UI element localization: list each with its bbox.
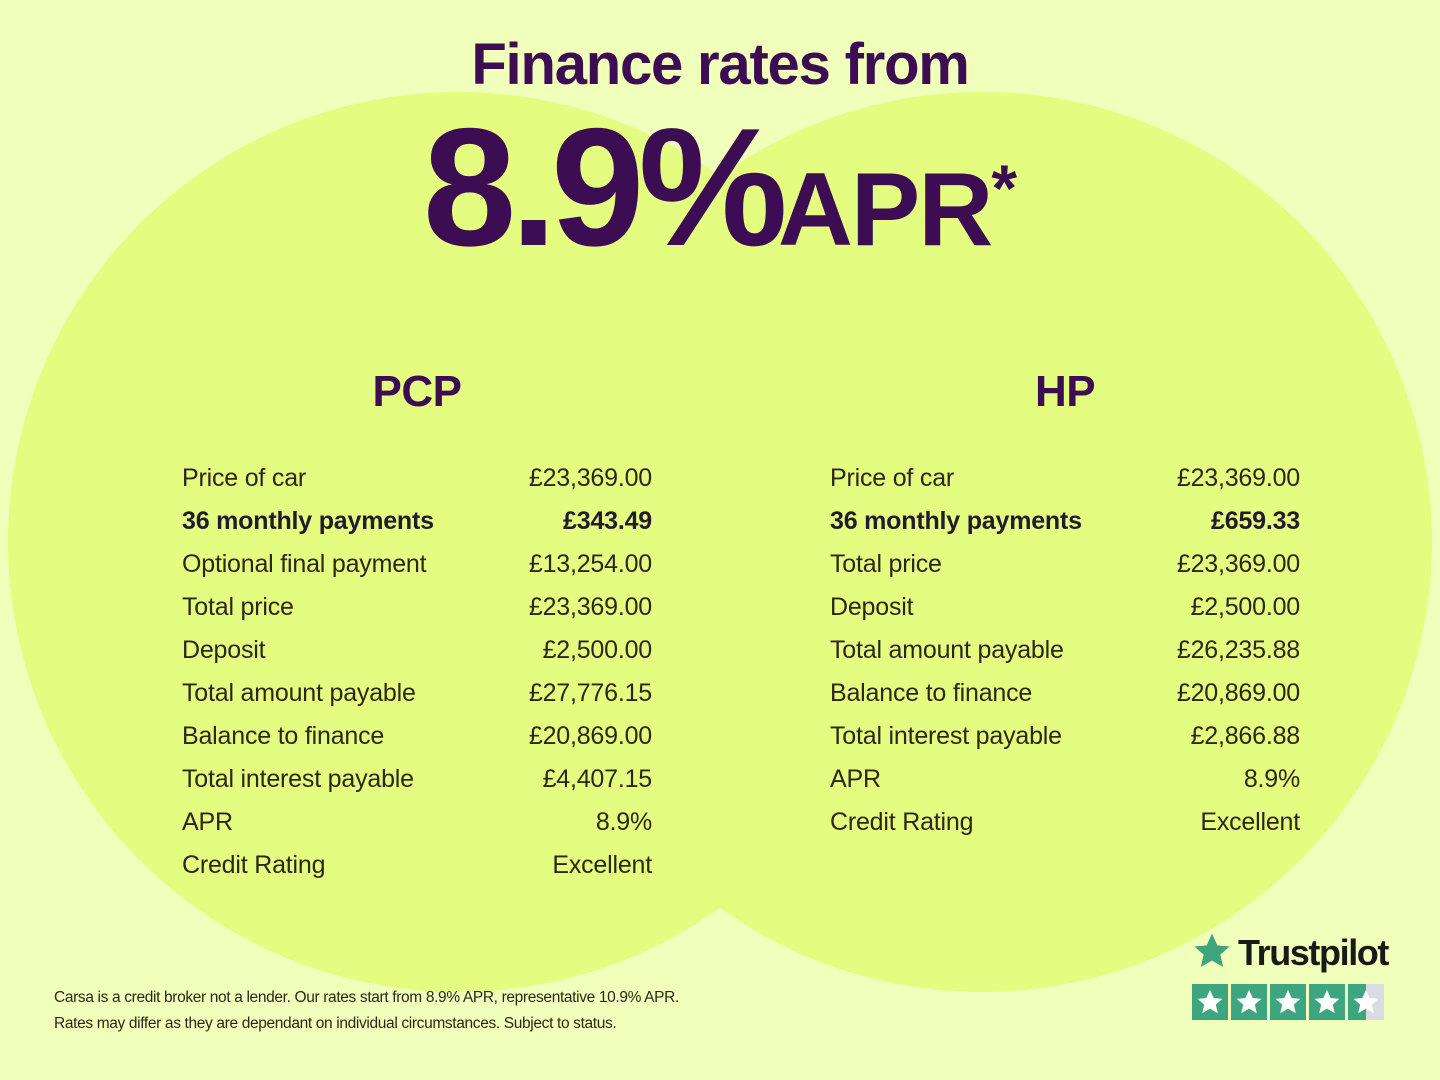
plan-rows-hp: Price of car£23,369.0036 monthly payment… [830,464,1300,851]
finance-row-label: Balance to finance [182,722,384,751]
finance-row: APR8.9% [830,765,1300,808]
finance-row: 36 monthly payments£659.33 [830,507,1300,550]
finance-row-label: APR [182,808,233,837]
finance-row-label: APR [830,765,881,794]
finance-row-value: £20,869.00 [529,722,652,751]
finance-row-value: £2,866.88 [1191,722,1300,751]
disclaimer-line-2: Rates may differ as they are dependant o… [54,1011,814,1037]
finance-row: Price of car£23,369.00 [182,464,652,507]
headline-rate-line: 8.9%APR* [0,110,1440,265]
trustpilot-star-rating [1192,984,1392,1020]
finance-row-value: £23,369.00 [529,593,652,622]
finance-row-value: £20,869.00 [1177,679,1300,708]
finance-row-value: £343.49 [563,507,652,536]
finance-row: Total price£23,369.00 [182,593,652,636]
trustpilot-star-tile [1192,984,1228,1020]
trustpilot-badge[interactable]: Trustpilot [1192,930,1392,1020]
finance-row-value: £4,407.15 [543,765,652,794]
finance-row-value: £2,500.00 [543,636,652,665]
plan-column-hp: HP Price of car£23,369.0036 monthly paym… [830,370,1300,851]
finance-row-label: Price of car [182,464,306,493]
trustpilot-wordmark: Trustpilot [1238,935,1388,971]
finance-row: Total interest payable£4,407.15 [182,765,652,808]
finance-row-label: Deposit [830,593,913,622]
plan-column-pcp: PCP Price of car£23,369.0036 monthly pay… [182,370,652,894]
finance-row-value: £27,776.15 [529,679,652,708]
finance-row-value: £659.33 [1211,507,1300,536]
plan-title-hp: HP [830,370,1300,414]
trustpilot-brand: Trustpilot [1192,930,1392,976]
finance-row-label: Total price [182,593,294,622]
finance-row-label: Total amount payable [182,679,416,708]
trustpilot-star-tile [1270,984,1306,1020]
finance-row: Deposit£2,500.00 [182,636,652,679]
headline-rate-value: 8.9% [423,93,782,281]
finance-row-label: Deposit [182,636,265,665]
finance-row: Credit RatingExcellent [830,808,1300,851]
trustpilot-star-icon [1192,931,1232,976]
legal-disclaimer: Carsa is a credit broker not a lender. O… [54,985,814,1036]
plan-title-pcp: PCP [182,370,652,414]
finance-row-value: £2,500.00 [1191,593,1300,622]
finance-row-label: 36 monthly payments [182,507,434,536]
finance-row-value: £13,254.00 [529,550,652,579]
finance-row-label: Balance to finance [830,679,1032,708]
finance-row: APR8.9% [182,808,652,851]
finance-row-label: Price of car [830,464,954,493]
finance-row: Credit RatingExcellent [182,851,652,894]
headline-eyebrow: Finance rates from [0,36,1440,94]
poster-canvas: Finance rates from 8.9%APR* PCP Price of… [0,0,1440,1080]
headline-apr-label: APR [778,152,992,268]
finance-row-label: Credit Rating [830,808,973,837]
trustpilot-star-tile [1231,984,1267,1020]
finance-row-label: Credit Rating [182,851,325,880]
finance-row-value: £23,369.00 [1177,464,1300,493]
finance-row: Total interest payable£2,866.88 [830,722,1300,765]
finance-row-value: Excellent [552,851,652,880]
finance-row-label: Total interest payable [830,722,1062,751]
finance-row-label: 36 monthly payments [830,507,1082,536]
finance-row: Optional final payment£13,254.00 [182,550,652,593]
trustpilot-star-tile [1348,984,1384,1020]
finance-row-value: £23,369.00 [529,464,652,493]
headline-asterisk: * [991,151,1017,225]
finance-row: Balance to finance£20,869.00 [182,722,652,765]
finance-row-value: 8.9% [596,808,652,837]
finance-row-label: Total price [830,550,942,579]
finance-row: Total amount payable£26,235.88 [830,636,1300,679]
finance-row-value: Excellent [1200,808,1300,837]
finance-row-label: Total amount payable [830,636,1064,665]
finance-row: Balance to finance£20,869.00 [830,679,1300,722]
finance-row-label: Optional final payment [182,550,426,579]
finance-row: Total amount payable£27,776.15 [182,679,652,722]
disclaimer-line-1: Carsa is a credit broker not a lender. O… [54,985,814,1011]
finance-row: Deposit£2,500.00 [830,593,1300,636]
finance-row: Price of car£23,369.00 [830,464,1300,507]
finance-row-value: £26,235.88 [1177,636,1300,665]
finance-row: 36 monthly payments£343.49 [182,507,652,550]
finance-row-label: Total interest payable [182,765,414,794]
finance-row: Total price£23,369.00 [830,550,1300,593]
finance-row-value: £23,369.00 [1177,550,1300,579]
finance-row-value: 8.9% [1244,765,1300,794]
trustpilot-star-tile [1309,984,1345,1020]
plan-rows-pcp: Price of car£23,369.0036 monthly payment… [182,464,652,894]
headline-block: Finance rates from 8.9%APR* [0,36,1440,265]
